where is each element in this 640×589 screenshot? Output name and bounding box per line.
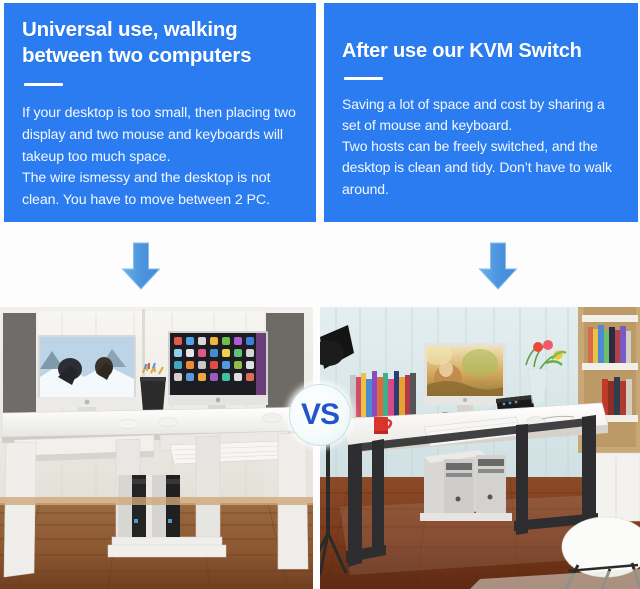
panels-row: Universal use, walking between two compu…: [0, 0, 640, 224]
vs-badge-label: VS: [301, 400, 339, 430]
panel-after-divider: [344, 77, 383, 80]
panel-before-divider: [24, 83, 63, 86]
arrow-down-icon: [477, 242, 519, 290]
panel-after-body: Saving a lot of space and cost by sharin…: [342, 94, 620, 200]
panel-before-heading: Universal use, walking between two compu…: [22, 17, 298, 69]
monitor-right: [168, 331, 268, 417]
vs-badge: VS: [289, 384, 351, 446]
panel-after-heading: After use our KVM Switch: [342, 39, 620, 65]
photos-row: [0, 307, 640, 589]
desk-books: [350, 371, 416, 419]
panel-before: Universal use, walking between two compu…: [4, 3, 316, 222]
pen-holder: [140, 363, 166, 411]
photo-after: [320, 307, 640, 589]
panel-after: After use our KVM Switch Saving a lot of…: [324, 3, 638, 222]
panel-before-body: If your desktop is too small, then placi…: [22, 103, 298, 211]
comparison-infographic: Universal use, walking between two compu…: [0, 0, 640, 589]
monitor-left: [38, 335, 136, 419]
photo-before: [0, 307, 313, 589]
arrows-row: [0, 224, 640, 306]
pc-towers: [420, 450, 512, 521]
arrow-down-icon: [120, 242, 162, 290]
